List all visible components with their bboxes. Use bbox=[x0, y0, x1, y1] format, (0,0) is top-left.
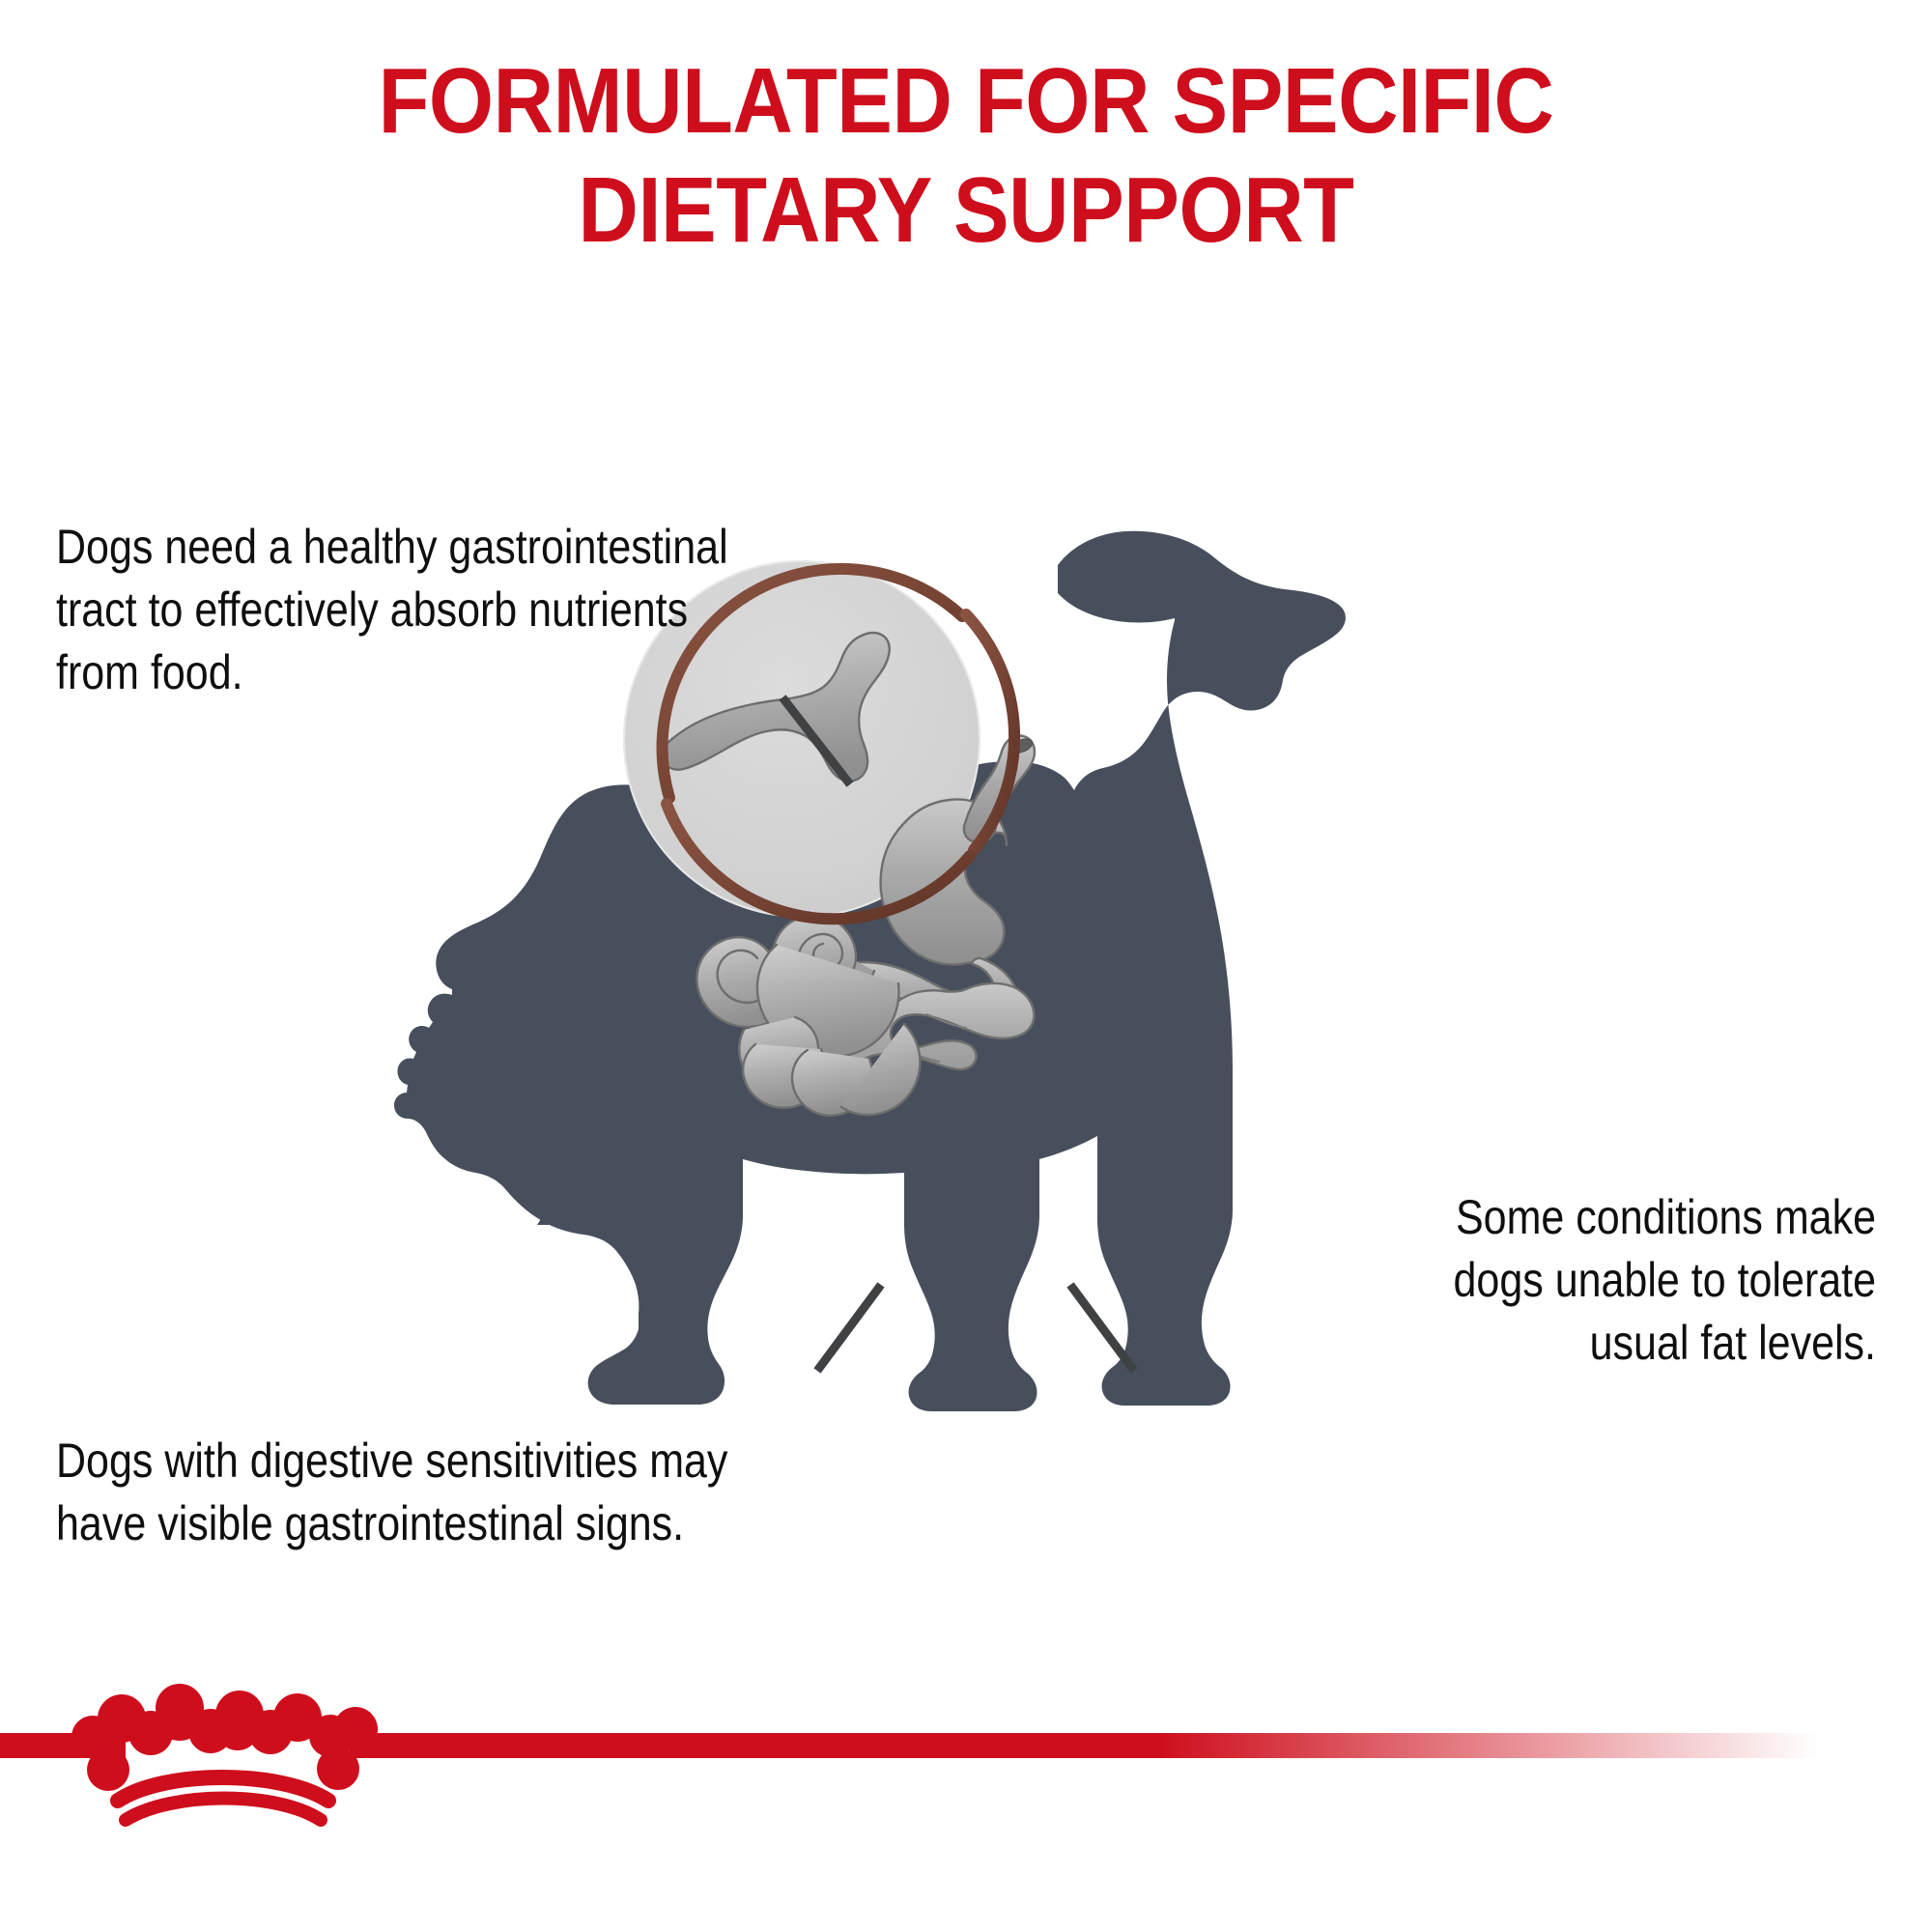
callout-top-left: Dogs need a healthy gastrointestinal tra… bbox=[56, 516, 746, 704]
brand-bar-right bbox=[350, 1733, 1818, 1758]
infographic-page: FORMULATED FOR SPECIFIC DIETARY SUPPORT bbox=[0, 0, 1932, 1932]
callout-bottom-right: Some conditions make dogs unable to tole… bbox=[1361, 1186, 1876, 1375]
royal-canin-brand-bar bbox=[0, 1673, 1932, 1828]
callout-bottom-left: Dogs with digestive sensitivities may ha… bbox=[56, 1430, 746, 1555]
dog-gi-tract-illustration bbox=[0, 0, 1932, 1932]
royal-canin-crown-logo bbox=[71, 1684, 378, 1820]
